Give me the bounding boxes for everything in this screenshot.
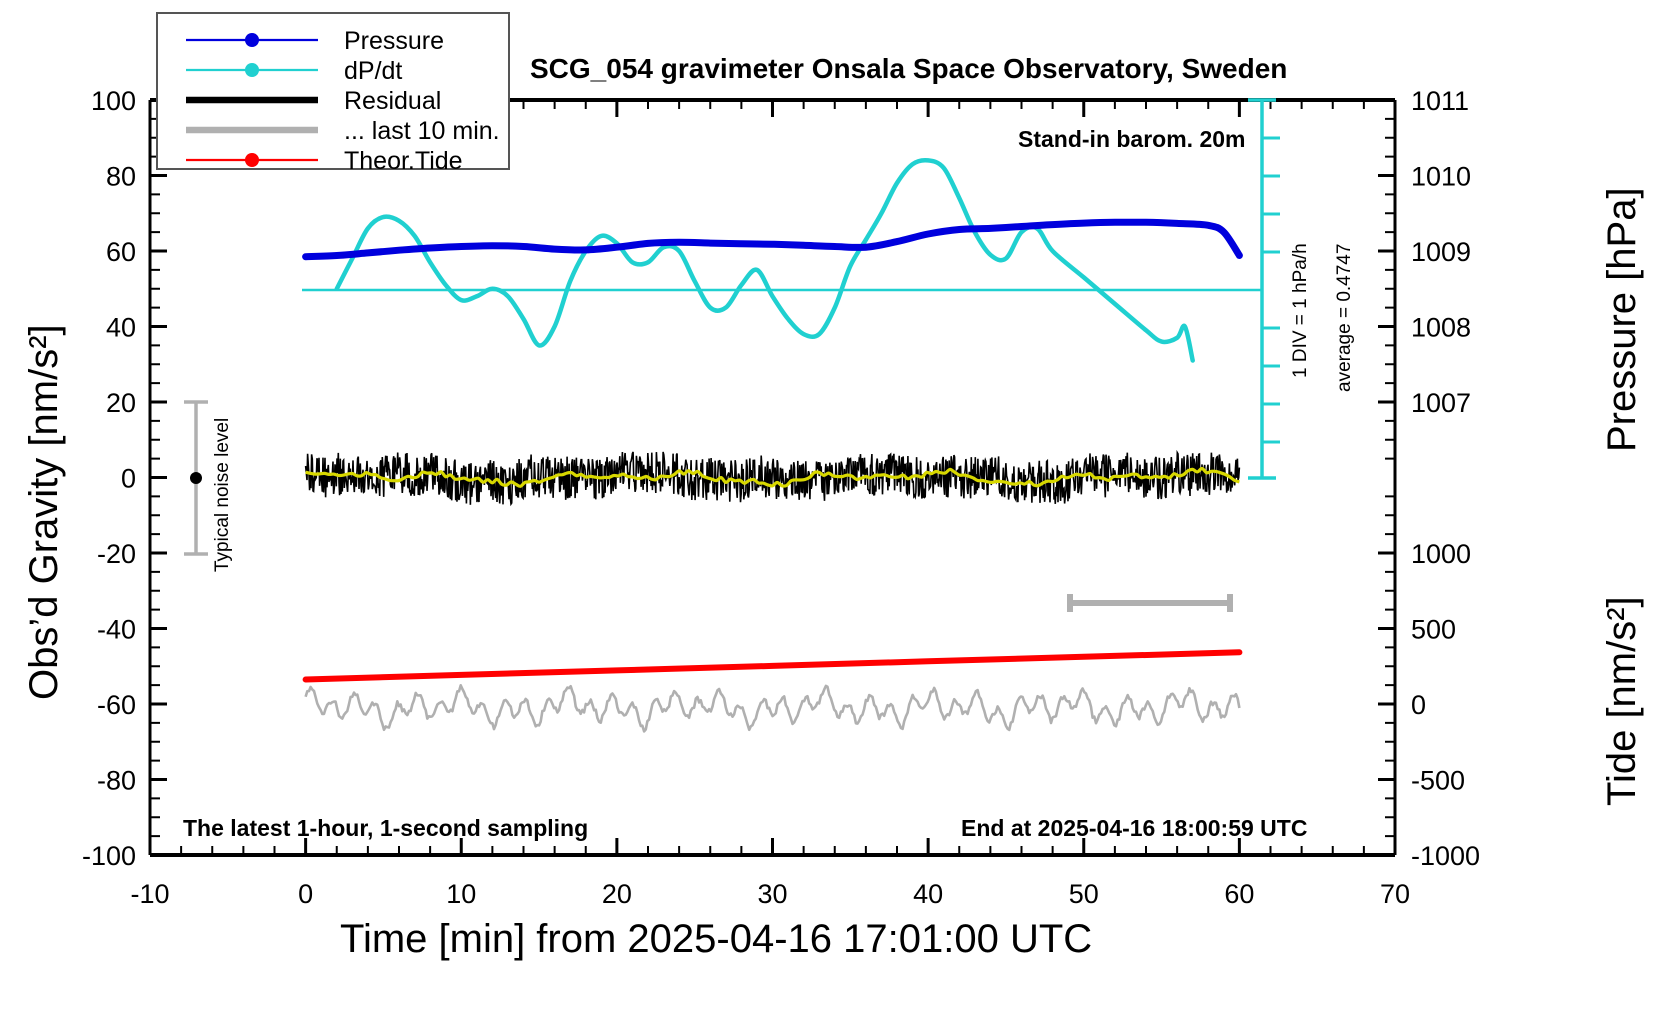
chart-title: SCG_054 gravimeter Onsala Space Observat… [530, 53, 1287, 84]
legend[interactable]: PressuredP/dtResidual... last 10 min.The… [157, 13, 509, 175]
y-tick-label: -60 [97, 690, 136, 720]
tide-tick-label: 1000 [1411, 539, 1471, 569]
tide-tick-label: 500 [1411, 615, 1456, 645]
x-tick-label: 20 [602, 879, 632, 909]
y-tick-label: 60 [106, 237, 136, 267]
y-tick-label: 100 [91, 86, 136, 116]
tide-tick-label: 0 [1411, 690, 1426, 720]
typical-noise-level-label: Typical noise level [212, 418, 233, 572]
x-tick-label: 60 [1224, 879, 1254, 909]
x-tick-label: 70 [1380, 879, 1410, 909]
footer-note-right: End at 2025-04-16 18:00:59 UTC [961, 815, 1307, 841]
tide-tick-label: -1000 [1411, 841, 1480, 871]
y-tick-label: -20 [97, 539, 136, 569]
x-tick-label: 10 [446, 879, 476, 909]
legend-item-label: Residual [344, 87, 441, 115]
scale-bar-label-average: average = 0.4747 [1334, 244, 1355, 392]
pressure-tick-label: 1007 [1411, 388, 1471, 418]
x-tick-label: -10 [130, 879, 169, 909]
x-tick-label: 0 [298, 879, 313, 909]
footer-note-left: The latest 1-hour, 1-second sampling [183, 815, 588, 841]
x-tick-label: 50 [1069, 879, 1099, 909]
legend-marker-dot [245, 33, 259, 47]
y-axis-left-title: Obs’d Gravity [nm/s²] [22, 324, 66, 700]
pressure-axis-title: Pressure [hPa] [1600, 187, 1644, 452]
y-tick-label: 80 [106, 162, 136, 192]
pressure-tick-label: 1008 [1411, 313, 1471, 343]
legend-marker-dot [245, 153, 259, 167]
y-tick-label: -80 [97, 766, 136, 796]
gravimeter-plot-page: -10010203040506070 100806040200-20-40-60… [0, 0, 1660, 1020]
y-tick-label: -40 [97, 615, 136, 645]
legend-item-label: ... last 10 min. [344, 117, 500, 145]
x-axis-title: Time [min] from 2025-04-16 17:01:00 UTC [340, 917, 1092, 961]
y-tick-label: 0 [121, 464, 136, 494]
x-tick-label: 30 [757, 879, 787, 909]
tide-axis-title: Tide [nm/s²] [1600, 596, 1644, 806]
x-tick-label: 40 [913, 879, 943, 909]
legend-marker-dot [245, 63, 259, 77]
legend-item-label: dP/dt [344, 57, 402, 85]
tide-tick-label: -500 [1411, 766, 1465, 796]
legend-item-label: Theor.Tide [344, 147, 463, 175]
scale-bar-label-div: 1 DIV = 1 hPa/h [1290, 243, 1311, 378]
stand-in-barom-annotation: Stand-in barom. 20m [1018, 126, 1245, 152]
pressure-tick-label: 1010 [1411, 162, 1471, 192]
pressure-tick-label: 1011 [1411, 86, 1469, 116]
pressure-tick-label: 1009 [1411, 237, 1471, 267]
y-tick-label: 40 [106, 313, 136, 343]
gravimeter-chart: -10010203040506070 100806040200-20-40-60… [0, 0, 1660, 1020]
legend-item-label: Pressure [344, 27, 444, 55]
y-tick-label: -100 [82, 841, 136, 871]
y-tick-label: 20 [106, 388, 136, 418]
legend-box [157, 13, 509, 169]
